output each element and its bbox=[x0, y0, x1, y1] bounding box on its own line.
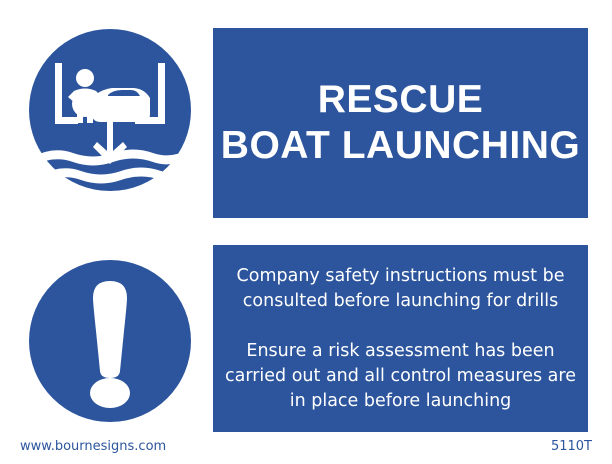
rescue-boat-icon-svg bbox=[29, 29, 191, 191]
title-line-2: BOAT LAUNCHING bbox=[221, 123, 580, 169]
general-mandatory-exclamation-pictogram bbox=[29, 250, 191, 432]
rescue-boat-launching-pictogram bbox=[29, 29, 191, 191]
title-panel: RESCUE BOAT LAUNCHING bbox=[213, 28, 588, 218]
footer-product-code: 5110T bbox=[551, 439, 592, 454]
instruction-paragraph-1: Company safety instructions must be cons… bbox=[213, 264, 588, 314]
exclamation-dot-icon bbox=[90, 378, 130, 408]
exclamation-icon-svg bbox=[29, 250, 191, 432]
safety-sign: RESCUE BOAT LAUNCHING Company safety ins… bbox=[0, 0, 612, 464]
footer: www.bournesigns.com 5110T bbox=[0, 437, 612, 464]
instruction-panel: Company safety instructions must be cons… bbox=[213, 245, 588, 432]
footer-website-url[interactable]: www.bournesigns.com bbox=[20, 439, 166, 454]
instruction-paragraph-2: Ensure a risk assessment has been carrie… bbox=[213, 339, 588, 414]
crew-head-icon bbox=[76, 69, 94, 87]
title-line-1: RESCUE bbox=[318, 77, 484, 123]
